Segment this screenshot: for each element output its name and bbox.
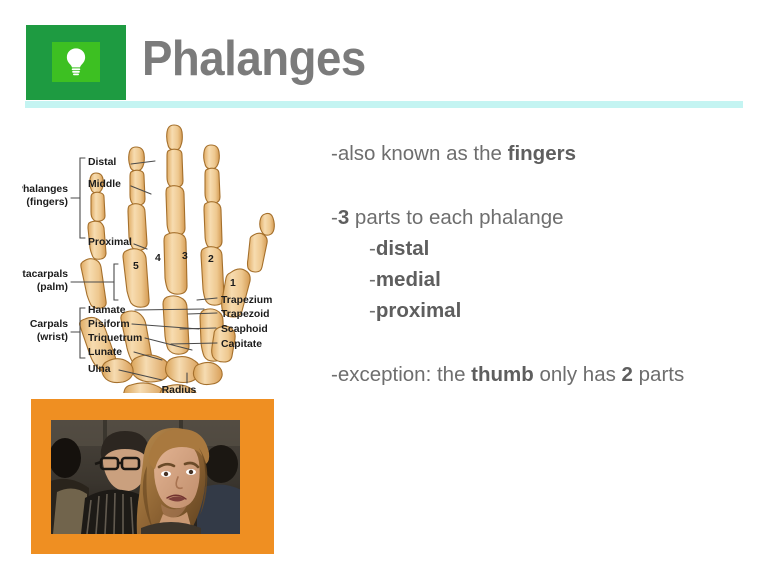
diagram-label-phalanges-sub: (fingers) <box>26 197 68 208</box>
bullet-dash: - <box>369 268 376 291</box>
diagram-label-carpals-sub: (wrist) <box>37 332 68 343</box>
reaction-photo <box>51 420 240 534</box>
bullet-also-known: -also known as the fingers <box>331 138 743 169</box>
header-divider-rule <box>25 101 743 108</box>
diagram-digit-2: 2 <box>208 254 214 265</box>
bullet-dash: - <box>331 363 338 386</box>
diagram-label-metacarpals-sub: (palm) <box>37 282 68 293</box>
diagram-digit-1: 1 <box>230 278 236 289</box>
diagram-label-proximal: Proximal <box>88 237 132 248</box>
diagram-label-carpals: Carpals <box>30 319 68 330</box>
diagram-label-lunate: Lunate <box>88 347 122 358</box>
diagram-label-metacarpals: Metacarpals <box>22 269 68 280</box>
sub-bullet-distal: -distal <box>331 233 743 264</box>
diagram-label-pisiform: Pisiform <box>88 319 130 330</box>
diagram-label-trapezium: Trapezium <box>221 295 272 306</box>
bullet-emphasis: 3 <box>338 206 349 229</box>
bullet-dash: - <box>331 142 338 165</box>
bullet-dash: - <box>369 237 376 260</box>
sub-bullet-medial: -medial <box>331 264 743 295</box>
diagram-label-middle: Middle <box>88 179 121 190</box>
diagram-label-ulna: Ulna <box>88 364 111 375</box>
hand-skeleton-diagram: Phalanges (fingers) Distal Middle Proxim… <box>22 118 307 393</box>
bullet-emphasis: fingers <box>508 142 576 165</box>
body-text-column: -also known as the fingers -3 parts to e… <box>331 138 743 390</box>
diagram-label-capitate: Capitate <box>221 339 262 350</box>
photo-frame <box>31 399 274 554</box>
bullet-dash: - <box>369 299 376 322</box>
bullet-text: parts <box>633 363 684 386</box>
text-spacer <box>331 326 743 359</box>
bullet-dash: - <box>331 206 338 229</box>
diagram-label-distal: Distal <box>88 157 116 168</box>
text-spacer <box>331 169 743 202</box>
bullet-three-parts: -3 parts to each phalange <box>331 202 743 233</box>
slide-canvas: Phalanges -also known as the fingers -3 … <box>0 0 768 561</box>
sub-bullet-label: proximal <box>376 299 461 322</box>
bullet-text: parts to each phalange <box>349 206 563 229</box>
header-icon-badge <box>26 25 126 100</box>
diagram-digit-3: 3 <box>182 251 188 262</box>
diagram-digit-5: 5 <box>133 261 139 272</box>
sub-bullet-proximal: -proximal <box>331 295 743 326</box>
diagram-digit-4: 4 <box>155 253 161 264</box>
page-title: Phalanges <box>142 29 366 89</box>
diagram-label-radius: Radius <box>162 385 197 393</box>
bullet-emphasis: thumb <box>471 363 534 386</box>
bullet-emphasis: 2 <box>622 363 633 386</box>
lightbulb-icon <box>52 42 100 82</box>
diagram-label-triquetrum: Triquetrum <box>88 333 142 344</box>
diagram-label-scaphoid: Scaphoid <box>221 324 268 335</box>
diagram-label-trapezoid: Trapezoid <box>221 309 270 320</box>
sub-bullet-label: distal <box>376 237 430 260</box>
bullet-text: exception: the <box>338 363 471 386</box>
diagram-label-hamate: Hamate <box>88 305 126 316</box>
sub-bullet-label: medial <box>376 268 441 291</box>
diagram-label-phalanges: Phalanges <box>22 184 68 195</box>
bullet-thumb-exception: -exception: the thumb only has 2 parts <box>331 359 743 390</box>
bullet-text: also known as the <box>338 142 508 165</box>
bullet-text: only has <box>534 363 622 386</box>
